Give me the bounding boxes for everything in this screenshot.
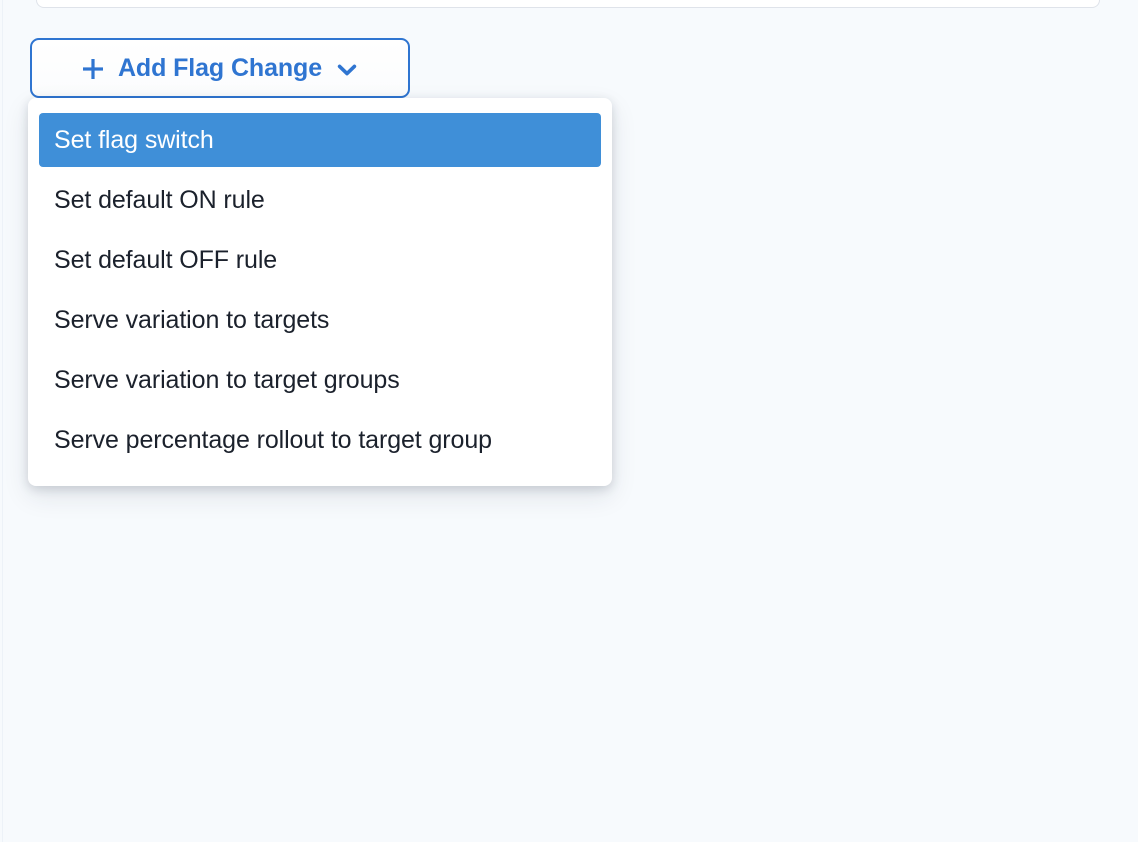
menu-item-set-default-on-rule[interactable]: Set default ON rule — [39, 173, 601, 227]
add-flag-change-dropdown[interactable]: Set flag switch Set default ON rule Set … — [28, 98, 612, 486]
menu-item-label: Serve variation to target groups — [54, 366, 400, 395]
chevron-down-icon — [336, 59, 358, 81]
menu-item-set-flag-switch[interactable]: Set flag switch — [39, 113, 601, 167]
menu-item-serve-percentage-rollout-to-target-group[interactable]: Serve percentage rollout to target group — [39, 413, 601, 467]
menu-item-serve-variation-to-targets[interactable]: Serve variation to targets — [39, 293, 601, 347]
plus-icon — [82, 58, 104, 80]
menu-item-label: Set default ON rule — [54, 186, 265, 215]
menu-item-label: Set default OFF rule — [54, 246, 277, 275]
menu-item-serve-variation-to-target-groups[interactable]: Serve variation to target groups — [39, 353, 601, 407]
menu-item-label: Serve variation to targets — [54, 306, 329, 335]
partial-panel-above — [36, 0, 1100, 8]
add-flag-change-button[interactable]: Add Flag Change — [30, 38, 410, 98]
page-left-rule — [2, 0, 3, 842]
add-flag-change-label: Add Flag Change — [118, 56, 322, 81]
menu-item-set-default-off-rule[interactable]: Set default OFF rule — [39, 233, 601, 287]
menu-item-label: Set flag switch — [54, 126, 214, 155]
menu-item-label: Serve percentage rollout to target group — [54, 426, 492, 455]
